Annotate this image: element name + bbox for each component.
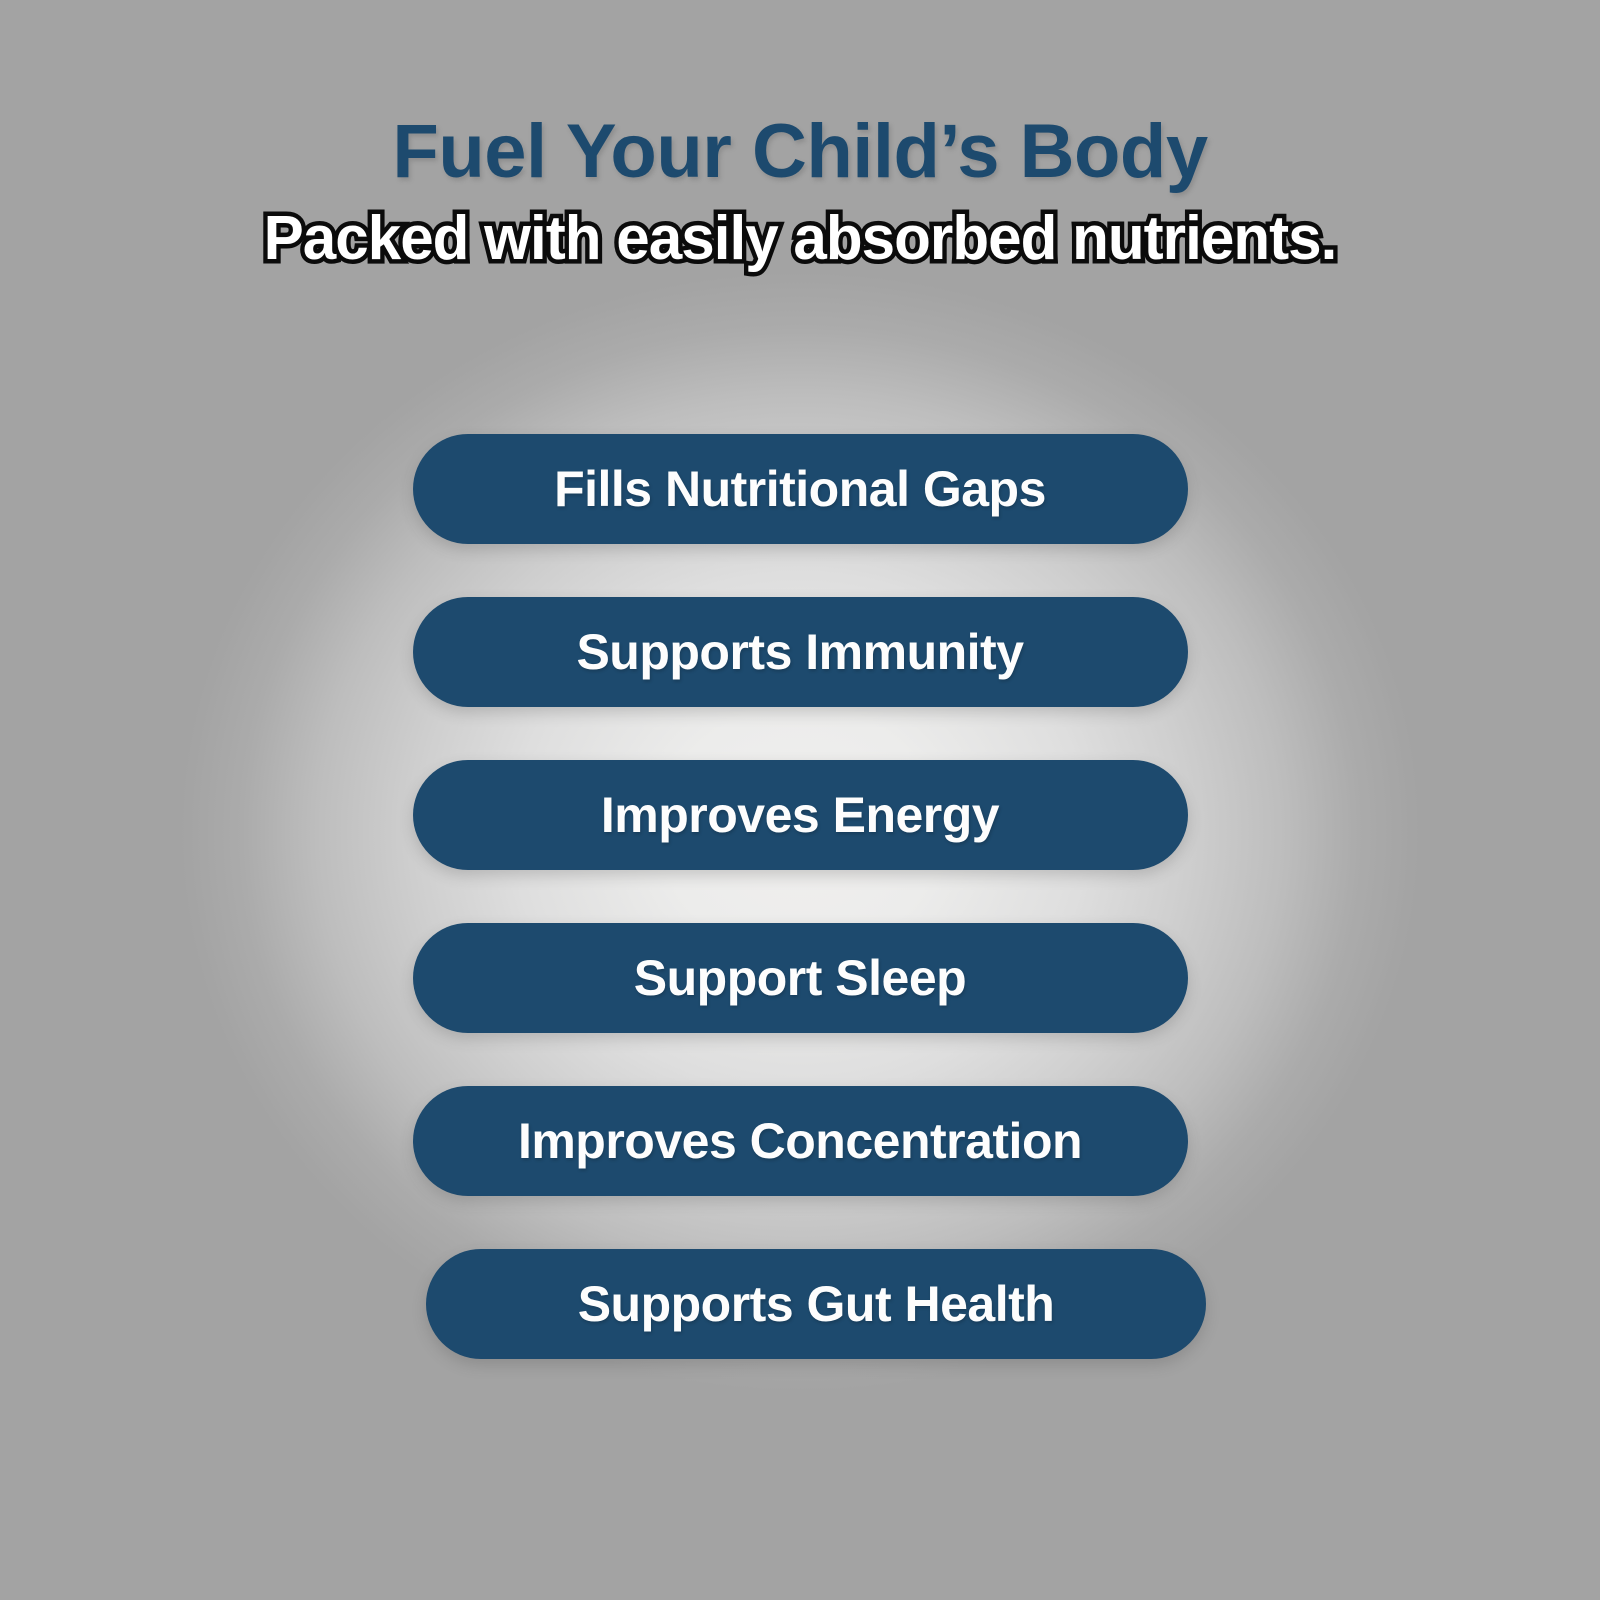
benefit-pill-label: Support Sleep (634, 949, 966, 1007)
benefit-pill-label: Supports Immunity (576, 623, 1023, 681)
benefit-pill-fills-nutritional-gaps[interactable]: Fills Nutritional Gaps (413, 434, 1188, 544)
benefit-pill-label: Fills Nutritional Gaps (554, 460, 1046, 518)
benefit-pill-label: Improves Concentration (518, 1112, 1082, 1170)
benefit-pill-support-sleep[interactable]: Support Sleep (413, 923, 1188, 1033)
benefit-pill-supports-gut-health[interactable]: Supports Gut Health (426, 1249, 1206, 1359)
page-subtitle: Packed with easily absorbed nutrients. (24, 206, 1576, 271)
benefit-pill-label: Supports Gut Health (578, 1275, 1055, 1333)
benefit-pill-list: Fills Nutritional Gaps Supports Immunity… (0, 434, 1600, 1359)
benefit-pill-label: Improves Energy (601, 786, 999, 844)
benefit-pill-improves-concentration[interactable]: Improves Concentration (413, 1086, 1188, 1196)
benefit-pill-supports-immunity[interactable]: Supports Immunity (413, 597, 1188, 707)
poster-canvas: Fuel Your Child’s Body Packed with easil… (0, 0, 1600, 1600)
page-title: Fuel Your Child’s Body (0, 112, 1600, 192)
header-block: Fuel Your Child’s Body Packed with easil… (0, 0, 1600, 271)
benefit-pill-improves-energy[interactable]: Improves Energy (413, 760, 1188, 870)
